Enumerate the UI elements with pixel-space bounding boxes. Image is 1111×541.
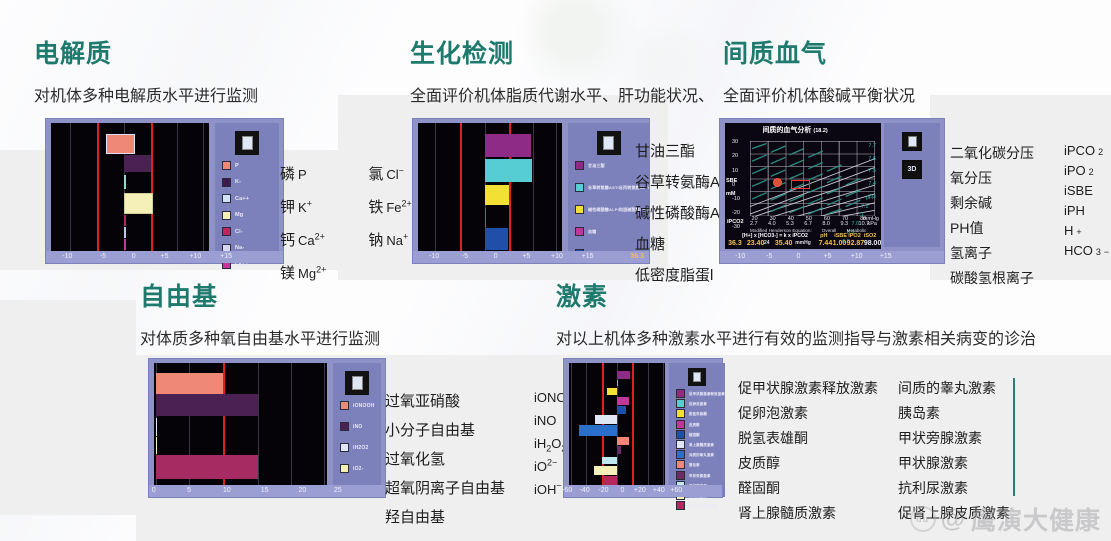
legend-label: 血糖 (588, 229, 596, 235)
label-sodium: 钠Na+ (368, 229, 411, 250)
section-electrolyte: 电解质 对机体多种电解质水平进行监测 (34, 42, 258, 105)
nomogram-unit-kpa: kPa (868, 221, 877, 227)
bar-trh (617, 371, 630, 379)
label-calcium: 钙Ca2+ (280, 229, 326, 250)
freeradical-label-cn: 羟自由基 (385, 506, 530, 527)
legend-item[interactable]: 促卵泡激素 (676, 399, 725, 408)
hormone-label: 甲状腺激素 (898, 453, 1010, 473)
watermark: du @ 鹰演大健康 (910, 501, 1101, 537)
legend-label: iONOOH (353, 403, 374, 409)
legend-item[interactable]: iNO (340, 422, 381, 431)
freeradical-subtitle: 对体质多种氧自由基水平进行监测 (140, 332, 380, 348)
hormone-axis-ticks: -60-40-20 0+20+40+60 (564, 485, 722, 497)
legend-item[interactable]: Ca++ (222, 194, 279, 203)
bloodgas-axis-ticks: -10-50 +5+10+15 (720, 251, 944, 263)
electrolyte-label-col-1: 磷P 钾K+ 钙Ca2+ 镁Mg2+ (280, 163, 326, 283)
biochem-labels: 甘油三酯谷草转氨酶A碱性磷酸酶A血糖低密度脂蛋l (635, 140, 720, 295)
bloodgas-label-col-cn: 二氧化碳分压氧分压剩余碱PH值氢离子碳酸氢根离子 (950, 143, 1054, 293)
nomogram-result-header: iSO2 (864, 233, 877, 239)
bar-cortisol (617, 397, 629, 405)
nomogram-y-tick: -10 (732, 196, 740, 202)
freeradical-label-cn: 过氧化氢 (385, 448, 530, 469)
legend-swatch (222, 194, 231, 203)
biochem-label: 碱性磷酸酶A (635, 202, 720, 223)
legend-swatch (676, 389, 685, 398)
hormone-label: 甲状旁腺激素 (898, 428, 1010, 448)
hormone-divider (1013, 378, 1015, 496)
document-icon[interactable] (345, 371, 369, 395)
bloodgas-title: 间质血气 (723, 42, 915, 67)
bar-testosterone (579, 425, 617, 435)
ref-line-low (97, 123, 99, 260)
document-icon[interactable] (597, 131, 621, 155)
nomogram-x-tick-kpa: 5.3 (786, 221, 794, 227)
bar-adh (594, 466, 617, 475)
bar-ionooh (156, 373, 223, 394)
nomogram-y-tick: -20 (732, 210, 740, 216)
legend-swatch (575, 183, 584, 192)
legend-label: iO2- (353, 466, 364, 472)
nomogram-result-header: iPO2 (848, 233, 861, 239)
legend-swatch (222, 178, 231, 187)
document-icon[interactable] (235, 131, 259, 155)
hormone-label: 脱氢表雄酮 (738, 428, 890, 448)
nomogram-equation: [H+] x [HCO3-] = k x iPCO2 (742, 233, 808, 239)
legend-item[interactable]: P (222, 161, 279, 170)
nomogram-equation-value: 36.3 (728, 240, 742, 247)
nomogram-ph-curve-label: 7.6 (868, 156, 876, 162)
legend-item[interactable]: 促甲状腺激素释放激素 (676, 389, 725, 398)
nomogram-equation-value: 23.40 (747, 240, 765, 247)
biochem-label-col: 甘油三酯谷草转氨酶A碱性磷酸酶A血糖低密度脂蛋l (635, 140, 720, 295)
hormone-label: 醛固酮 (738, 478, 890, 498)
electrolyte-label-col-2: 氯Cl− 铁Fe2+ 钠Na+ (368, 163, 411, 283)
legend-label: Cl- (235, 229, 243, 235)
nomogram-ph-curve-label: 7.7 (868, 143, 876, 149)
bar-pth (617, 446, 621, 454)
freeradical-title: 自由基 (140, 285, 380, 310)
bar-Ca (124, 175, 125, 189)
electrolyte-title: 电解质 (34, 42, 258, 67)
legend-item[interactable]: 肾上腺髓质激素 (676, 440, 725, 449)
hormone-label: 肾上腺髓质激素 (738, 503, 890, 523)
legend-label: 间质的睾丸激素 (689, 452, 714, 457)
biochem-title: 生化检测 (410, 42, 714, 67)
bar-Na (124, 227, 125, 238)
bar-Mg (124, 193, 153, 214)
hormone-label: 皮质醇 (738, 453, 890, 473)
legend-swatch (575, 227, 584, 236)
bar-fsh (617, 380, 618, 387)
legend-item[interactable]: 间质的睾丸激素 (676, 450, 725, 459)
biochem-plot[interactable] (418, 123, 562, 260)
legend-item[interactable]: iH2O2 (340, 443, 381, 452)
bloodgas-label-en: iSBE (1064, 183, 1109, 198)
bar-K (124, 155, 151, 173)
legend-label: 皮质醇 (689, 422, 700, 427)
bar-io2 (156, 437, 157, 454)
legend-swatch (340, 443, 349, 452)
legend-swatch (676, 420, 685, 429)
legend-label: 醛固酮 (689, 432, 700, 437)
nomogram-marker-box (791, 180, 810, 190)
legend-swatch (676, 399, 685, 408)
hormone-label-col-1: 促甲状腺激素释放激素促卵泡激素脱氢表雄酮皮质醇醛固酮肾上腺髓质激素 (738, 378, 890, 528)
label-magnesium: 镁Mg2+ (280, 262, 326, 283)
nomogram-curves (750, 141, 875, 217)
legend-label: 胰岛素 (689, 462, 700, 467)
nomogram-ph-curve-label: 7.0 (852, 221, 860, 227)
legend-label: 甲状旁腺激素 (689, 473, 711, 478)
bloodgas-label-col-en: iPCO2iPO2iSBEiPHH+HCO3− (1064, 143, 1109, 293)
legend-label: P (235, 163, 239, 169)
bloodgas-nomogram[interactable]: 间质的血气分析 (18.2) SBE (725, 123, 881, 249)
legend-label: 脱氢表雄酮 (689, 411, 707, 416)
legend-label: iH2O2 (353, 445, 368, 451)
bar-ih2o2 (156, 418, 157, 436)
bloodgas-label-en: iPCO2 (1064, 143, 1109, 158)
bar-acth (604, 476, 617, 485)
section-freeradical: 自由基 对体质多种氧自由基水平进行监测 (140, 285, 380, 348)
legend-swatch (340, 422, 349, 431)
legend-swatch (222, 227, 231, 236)
biochem-label: 血糖 (635, 233, 720, 254)
freeradical-label-col-cn: 过氧亚硝酸小分子自由基过氧化氢超氧阴离子自由基羟自由基 (385, 390, 530, 535)
baidu-logo: du (910, 506, 936, 532)
bloodgas-label-cn: 氧分压 (950, 168, 1054, 188)
legend-item[interactable]: 促肾上腺皮质激素 (676, 501, 725, 510)
legend-label: 促肾上腺皮质激素 (689, 503, 718, 508)
legend-swatch (676, 471, 685, 480)
legend-label: 肾上腺髓质激素 (689, 442, 714, 447)
legend-label: Ca++ (235, 196, 249, 202)
freeradical-label-cn: 超氧阴离子自由基 (385, 477, 530, 498)
bar-ldl (485, 228, 508, 250)
legend-swatch (676, 501, 685, 510)
legend-label: iNO (353, 424, 363, 430)
legend-label: 促卵泡激素 (689, 401, 707, 406)
background-panel-lower-left (0, 300, 136, 515)
bar-aldosterone (617, 406, 626, 414)
biochem-label: 甘油三酯 (635, 140, 720, 161)
nomogram-equation-value: mmHg (795, 240, 811, 246)
document-icon[interactable] (902, 132, 922, 151)
legend-swatch (340, 464, 349, 473)
electrolyte-labels: 磷P 钾K+ 钙Ca2+ 镁Mg2+ 氯Cl− 铁Fe2+ 钠Na+ (280, 163, 412, 283)
legend-swatch (676, 460, 685, 469)
nomogram-equation-value: 24 (764, 240, 770, 246)
legend-swatch (575, 205, 584, 214)
legend-label: 促甲状腺激素释放激素 (689, 391, 725, 396)
legend-label: 甘油三酯 (588, 163, 605, 169)
legend-item[interactable]: Mg (222, 211, 279, 220)
hormone-label: 促甲状腺激素释放激素 (738, 378, 890, 398)
bar-dhea (607, 388, 617, 396)
bar-ast (485, 159, 533, 182)
freeradical-legend[interactable]: iONOOHiNOiH2O2iO2-iOH- (333, 363, 381, 497)
bar-thyroid (602, 457, 617, 465)
legend-label: K- (235, 179, 241, 185)
bar-insulin (617, 437, 629, 445)
section-biochem: 生化检测 全面评价机体脂质代谢水平、肝功能状况、 (410, 42, 714, 105)
nomogram-title: 间质的血气分析 (18.2) (762, 125, 827, 135)
legend-swatch (340, 401, 349, 410)
ref-line-high (632, 363, 634, 493)
legend-swatch (676, 430, 685, 439)
legend-label: Mg (235, 212, 243, 218)
label-chloride: 氯Cl− (368, 163, 411, 184)
legend-swatch (676, 409, 685, 418)
freeradical-plot[interactable] (154, 363, 327, 493)
nomogram-result-value: 1.00 (833, 240, 847, 247)
watermark-text: 鹰演大健康 (971, 501, 1101, 537)
biochem-window[interactable]: 甘油三酯谷草转氨酶ASTi谷丙转氨酶ALTi碱性磷酸酶ALPi和胆碱酯酶SST血… (412, 118, 650, 264)
hormone-plot[interactable] (569, 363, 665, 493)
legend-item[interactable]: iONOOH (340, 401, 381, 410)
nomogram-ph-curve-label: 7.2 (861, 204, 869, 210)
nomogram-result-value: 98.00 (864, 240, 881, 247)
bloodgas-subtitle: 全面评价机体酸碱平衡状况 (723, 89, 915, 105)
nomogram-result-value: 92.87 (847, 240, 865, 247)
hormone-label: 胰岛素 (898, 403, 1010, 423)
nomogram-ph-curve-label: 7.4 (868, 181, 876, 187)
document-icon[interactable] (688, 368, 706, 386)
3d-view-icon[interactable]: 3D (902, 160, 922, 179)
nomogram-ph-curve-label: 7.5 (868, 168, 876, 174)
nomogram-x-tick-kpa: 8.0 (822, 221, 830, 227)
bloodgas-label-cn: PH值 (950, 218, 1054, 238)
electrolyte-axis-ticks: -10-50 +5+10+15 (46, 251, 283, 263)
section-bloodgas: 间质血气 全面评价机体酸碱平衡状况 (723, 42, 915, 105)
bloodgas-label-en: H+ (1064, 223, 1109, 238)
hormone-label: 间质的睾丸激素 (898, 378, 1010, 398)
freeradical-label-cn: 过氧亚硝酸 (385, 390, 530, 411)
electrolyte-plot[interactable] (51, 123, 209, 260)
biochem-subtitle: 全面评价机体脂质代谢水平、肝功能状况、 (410, 89, 714, 105)
electrolyte-window[interactable]: PK-Ca++MgCl-Na-Fe++ -10-50 +5+10+15 (45, 118, 284, 264)
nomogram-y-tick: 10 (732, 168, 738, 174)
biochem-label: 低密度脂蛋l (635, 264, 720, 285)
nomogram-result-header: iSBE (834, 233, 847, 239)
bloodgas-label-en: HCO3− (1064, 243, 1109, 258)
bloodgas-label-cn: 二氧化碳分压 (950, 143, 1054, 163)
nomogram-ph-curve-label: 7.1 (856, 212, 864, 218)
bar-ioh (156, 455, 258, 478)
bloodgas-side-panel[interactable]: 3D (884, 123, 940, 247)
freeradical-labels: 过氧亚硝酸小分子自由基过氧化氢超氧阴离子自由基羟自由基 iONOOHiNOiH2… (385, 390, 586, 535)
bar-alp (485, 185, 509, 206)
bar-ino (156, 394, 258, 416)
freeradical-label-cn: 小分子自由基 (385, 419, 530, 440)
legend-item[interactable]: 甲状旁腺激素 (676, 471, 725, 480)
bar-P (106, 134, 135, 154)
legend-swatch (676, 450, 685, 459)
bar-Cl (124, 215, 125, 226)
nomogram-y-tick: 20 (732, 153, 738, 159)
biochem-label: 谷草转氨酶A (635, 171, 720, 192)
section-hormone: 激素 对以上机体多种激素水平进行有效的监测指导与激素相关病变的诊治 (556, 285, 1036, 348)
hormone-subtitle: 对以上机体多种激素水平进行有效的监测指导与激素相关病变的诊治 (556, 332, 1036, 348)
nomogram-y-tick: 0 (732, 182, 735, 188)
nomogram-x-axis-label: iPCO2 (727, 219, 744, 225)
bloodgas-label-en: iPH (1064, 203, 1109, 218)
bar-adrenal-medulla (595, 415, 617, 424)
bloodgas-label-en: iPO2 (1064, 163, 1109, 178)
legend-swatch (222, 161, 231, 170)
nomogram-x-tick-kpa: 2.7 (750, 221, 758, 227)
bloodgas-labels: 二氧化碳分压氧分压剩余碱PH值氢离子碳酸氢根离子 iPCO2iPO2iSBEiP… (950, 143, 1109, 293)
legend-item[interactable]: 胰岛素 (676, 460, 725, 469)
ref-line-low (460, 123, 462, 260)
legend-swatch (222, 211, 231, 220)
biochem-axis-ticks: -10-50 +5+10+15 36.3 (413, 251, 649, 263)
nomogram-x-tick-kpa: 6.7 (804, 221, 812, 227)
legend-item[interactable]: 醛固酮 (676, 430, 725, 439)
bar-triglyceride (485, 134, 531, 157)
legend-item[interactable]: 脱氢表雄酮 (676, 409, 725, 418)
label-iron: 铁Fe2+ (368, 196, 411, 217)
nomogram-ph-label: pH (866, 195, 873, 201)
electrolyte-subtitle: 对机体多种电解质水平进行监测 (34, 89, 258, 105)
freeradical-window[interactable]: iONOOHiNOiH2O2iO2-iOH- 0510 152025 (148, 358, 386, 498)
bloodgas-window[interactable]: 间质的血气分析 (18.2) SBE (719, 118, 945, 264)
legend-item[interactable]: K- (222, 178, 279, 187)
nomogram-result-value: 7.44 (819, 240, 833, 247)
legend-item[interactable]: Cl- (222, 227, 279, 236)
legend-swatch (575, 161, 584, 170)
hormone-window[interactable]: 促甲状腺激素释放激素促卵泡激素脱氢表雄酮皮质醇醛固酮肾上腺髓质激素间质的睾丸激素… (563, 358, 723, 498)
nomogram-x-tick-kpa: 9.3 (840, 221, 848, 227)
at-symbol: @ (941, 505, 966, 534)
legend-item[interactable]: 皮质醇 (676, 420, 725, 429)
nomogram-y-tick: 30 (732, 139, 738, 145)
hormone-title: 激素 (556, 285, 1036, 310)
nomogram-result-header: pH (820, 233, 827, 239)
label-phosphorus: 磷P (280, 163, 326, 184)
hormone-label: 抗利尿激素 (898, 478, 1010, 498)
hormone-label: 促卵泡激素 (738, 403, 890, 423)
nomogram-equation-value: 35.40 (775, 240, 793, 247)
legend-swatch (676, 440, 685, 449)
ref-line-high (151, 123, 153, 260)
bar-glucose (485, 208, 486, 227)
label-potassium: 钾K+ (280, 196, 326, 217)
bloodgas-label-cn: 剩余碱 (950, 193, 1054, 213)
nomogram-x-tick-kpa: 4.0 (768, 221, 776, 227)
electrolyte-legend[interactable]: PK-Ca++MgCl-Na-Fe++ (215, 123, 279, 263)
freeradical-axis-ticks: 0510 152025 (149, 485, 385, 497)
legend-item[interactable]: iO2- (340, 464, 381, 473)
hormone-legend[interactable]: 促甲状腺激素释放激素促卵泡激素脱氢表雄酮皮质醇醛固酮肾上腺髓质激素间质的睾丸激素… (669, 363, 725, 497)
bloodgas-label-cn: 氢离子 (950, 243, 1054, 263)
